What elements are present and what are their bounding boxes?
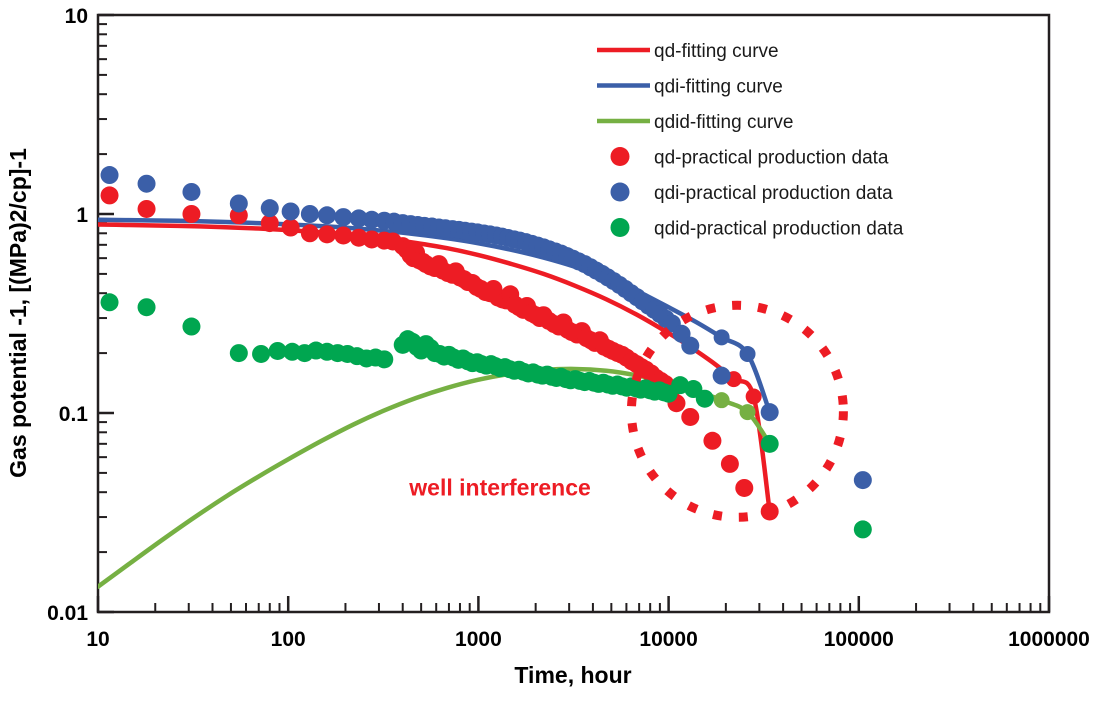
data-point [282, 219, 300, 237]
data-point [138, 200, 156, 218]
data-point [735, 479, 753, 497]
y-tick-label: 1 [76, 204, 88, 227]
y-tick-label: 0.1 [59, 403, 89, 426]
x-tick-label: 10000 [639, 628, 697, 651]
data-point [182, 205, 200, 223]
data-point [318, 206, 336, 224]
curve-endpoint-marker [746, 389, 762, 405]
data-point [282, 202, 300, 220]
x-tick-label: 1000000 [1008, 628, 1090, 651]
chart-figure: well interference 1010010001000010000010… [0, 0, 1100, 704]
legend-marker-swatch [611, 218, 630, 237]
legend-item-label: qdid-practical production data [654, 219, 904, 240]
data-point [681, 337, 699, 355]
data-point [138, 175, 156, 193]
data-point [101, 186, 119, 204]
data-point [230, 344, 248, 362]
data-point [138, 298, 156, 316]
data-point [681, 408, 699, 426]
data-point [182, 183, 200, 201]
data-point [375, 350, 393, 368]
curve-endpoint-marker [714, 329, 730, 345]
data-point [721, 455, 739, 473]
x-tick-label: 100 [271, 628, 306, 651]
y-tick-label: 0.01 [47, 602, 88, 625]
x-tick-label: 1000 [455, 628, 502, 651]
legend-marker-swatch [611, 147, 630, 166]
data-point [761, 403, 779, 421]
x-tick-label: 100000 [824, 628, 894, 651]
legend-marker-swatch [611, 183, 630, 202]
data-point [182, 318, 200, 336]
legend-item-label: qd-practical production data [654, 148, 889, 169]
data-point [318, 225, 336, 243]
data-point [230, 194, 248, 212]
data-point [334, 208, 352, 226]
data-point [854, 471, 872, 489]
legend-item-label: qdi-practical production data [654, 183, 893, 204]
data-point [713, 367, 731, 385]
x-tick-label: 10 [86, 628, 109, 651]
data-point [301, 205, 319, 223]
log-log-decline-curve-chart: well interference 1010010001000010000010… [0, 0, 1100, 704]
data-point [301, 224, 319, 242]
data-point [252, 345, 270, 363]
data-point [261, 199, 279, 217]
x-axis-title: Time, hour [514, 662, 631, 688]
curve-endpoint-marker [714, 392, 730, 408]
figure-background [0, 0, 1100, 704]
data-point [696, 390, 714, 408]
curve-endpoint-marker [740, 404, 756, 420]
legend-item-label: qdi-fitting curve [654, 77, 783, 98]
data-point [854, 520, 872, 538]
curve-endpoint-marker [740, 346, 756, 362]
y-tick-label: 10 [65, 5, 88, 28]
data-point [101, 166, 119, 184]
data-point [761, 435, 779, 453]
legend-item-label: qd-fitting curve [654, 41, 779, 62]
well-interference-label: well interference [408, 474, 591, 500]
y-axis-title: Gas potential -1, [(MPa)2/cp]-1 [5, 148, 31, 478]
data-point [101, 293, 119, 311]
legend-qdid-data[interactable]: qdid-practical production data [611, 218, 904, 240]
legend-item-label: qdid-fitting curve [654, 112, 793, 133]
data-point [703, 432, 721, 450]
data-point [334, 226, 352, 244]
